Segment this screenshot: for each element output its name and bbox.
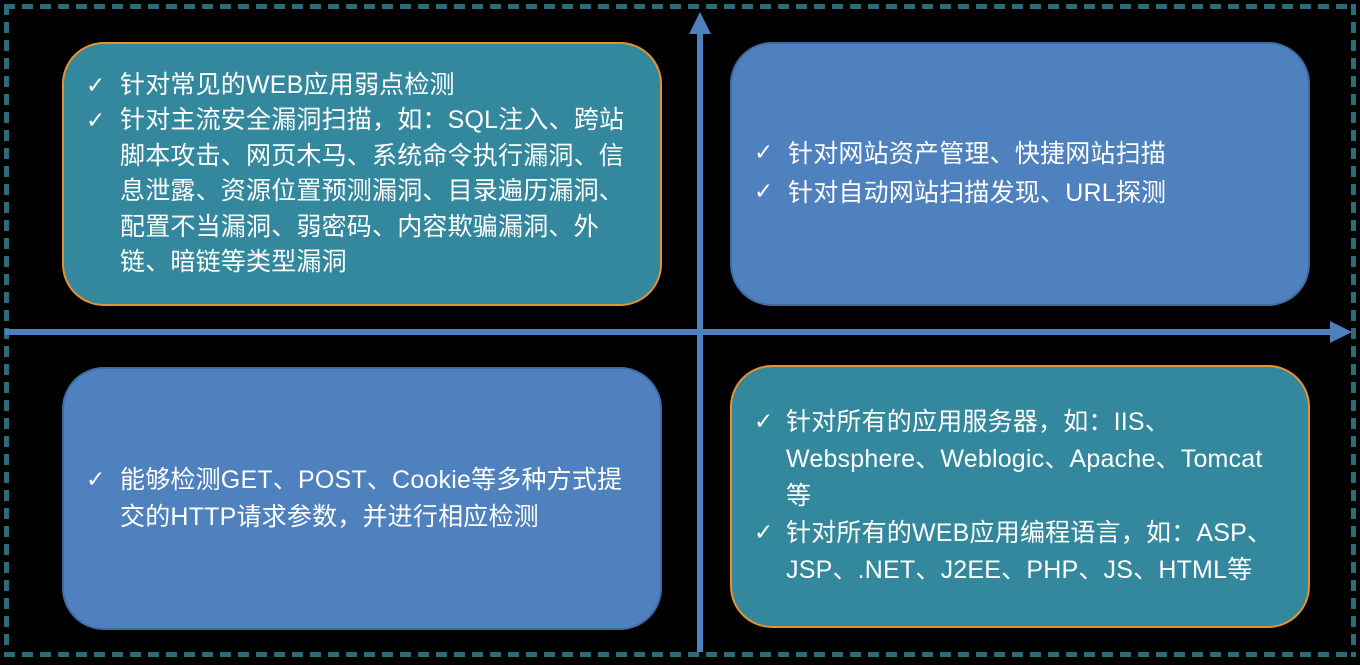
list-item: ✓ 针对自动网站扫描发现、URL探测 bbox=[754, 174, 1284, 213]
list-item-label: 能够检测GET、POST、Cookie等多种方式提交的HTTP请求参数，并进行相… bbox=[120, 462, 636, 536]
quadrant-top-right[interactable]: ✓ 针对网站资产管理、快捷网站扫描 ✓ 针对自动网站扫描发现、URL探测 bbox=[730, 42, 1310, 306]
quadrant-bottom-left[interactable]: ✓ 能够检测GET、POST、Cookie等多种方式提交的HTTP请求参数，并进… bbox=[62, 367, 662, 630]
horizontal-axis-line bbox=[5, 329, 1332, 335]
right-arrow-icon bbox=[1330, 321, 1352, 343]
list-item-label: 针对所有的应用服务器，如：IIS、Websphere、Weblogic、Apac… bbox=[786, 404, 1284, 515]
list-item: ✓ 能够检测GET、POST、Cookie等多种方式提交的HTTP请求参数，并进… bbox=[86, 462, 636, 536]
frame-top-edge bbox=[4, 4, 1356, 9]
checkmark-icon: ✓ bbox=[86, 68, 120, 103]
list-item-label: 针对网站资产管理、快捷网站扫描 bbox=[788, 135, 1284, 174]
list-item-label: 针对所有的WEB应用编程语言，如：ASP、JSP、.NET、J2EE、PHP、J… bbox=[786, 515, 1284, 589]
list-item-label: 针对自动网站扫描发现、URL探测 bbox=[788, 174, 1284, 213]
list-item-label: 针对常见的WEB应用弱点检测 bbox=[120, 68, 636, 104]
vertical-axis-line bbox=[697, 32, 703, 652]
slide-canvas: ✓ 针对常见的WEB应用弱点检测 ✓ 针对主流安全漏洞扫描，如：SQL注入、跨站… bbox=[0, 0, 1360, 665]
checkmark-icon: ✓ bbox=[754, 135, 788, 170]
checkmark-icon: ✓ bbox=[86, 462, 120, 497]
list-item: ✓ 针对所有的WEB应用编程语言，如：ASP、JSP、.NET、J2EE、PHP… bbox=[754, 515, 1284, 589]
list-item: ✓ 针对主流安全漏洞扫描，如：SQL注入、跨站脚本攻击、网页木马、系统命令执行漏… bbox=[86, 103, 636, 281]
checkmark-icon: ✓ bbox=[754, 515, 786, 550]
checkmark-icon: ✓ bbox=[86, 103, 120, 138]
quadrant-top-left[interactable]: ✓ 针对常见的WEB应用弱点检测 ✓ 针对主流安全漏洞扫描，如：SQL注入、跨站… bbox=[62, 42, 662, 306]
checkmark-icon: ✓ bbox=[754, 404, 786, 439]
list-item: ✓ 针对所有的应用服务器，如：IIS、Websphere、Weblogic、Ap… bbox=[754, 404, 1284, 515]
list-item-label: 针对主流安全漏洞扫描，如：SQL注入、跨站脚本攻击、网页木马、系统命令执行漏洞、… bbox=[120, 103, 636, 281]
frame-bottom-edge bbox=[4, 652, 1356, 657]
up-arrow-icon bbox=[689, 12, 711, 34]
list-item: ✓ 针对网站资产管理、快捷网站扫描 bbox=[754, 135, 1284, 174]
checkmark-icon: ✓ bbox=[754, 174, 788, 209]
list-item: ✓ 针对常见的WEB应用弱点检测 bbox=[86, 68, 636, 104]
quadrant-bottom-right[interactable]: ✓ 针对所有的应用服务器，如：IIS、Websphere、Weblogic、Ap… bbox=[730, 365, 1310, 628]
